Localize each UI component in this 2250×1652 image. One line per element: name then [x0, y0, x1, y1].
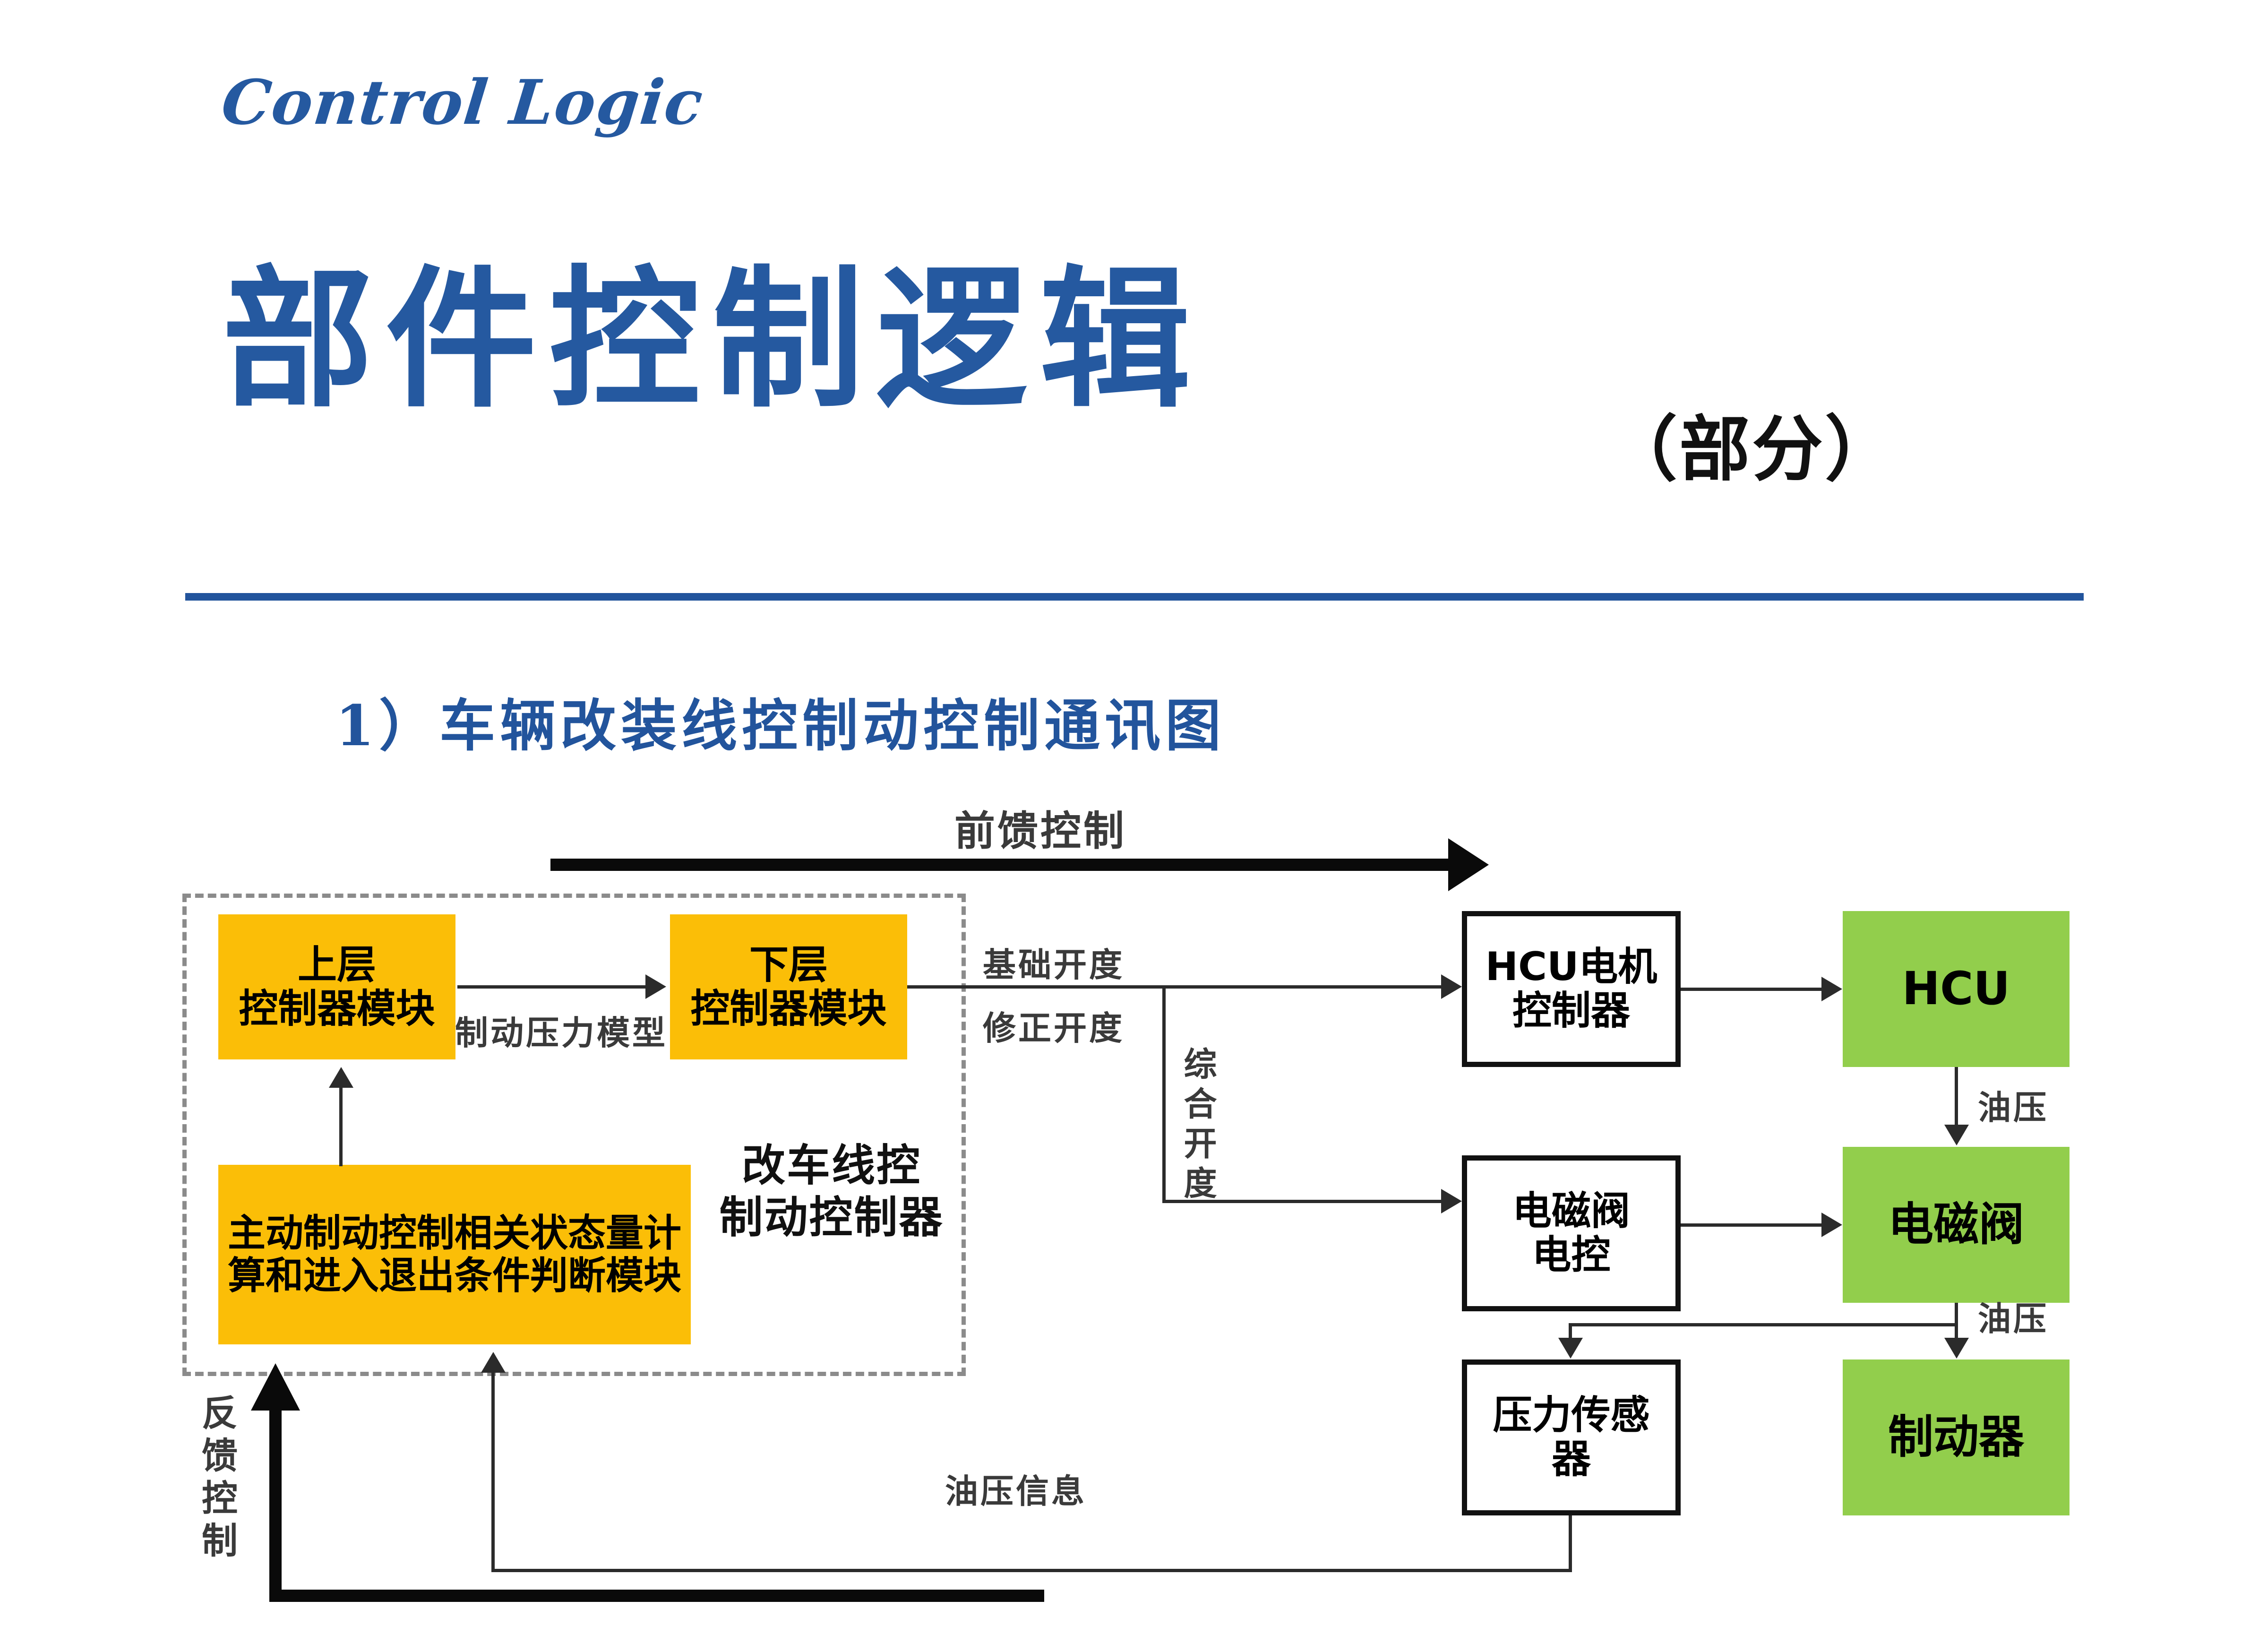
- edge-label-oil-pressure-info: 油压信息: [945, 1465, 1087, 1513]
- edge-valve-to-brake-head: [1944, 1338, 1969, 1359]
- page-title-suffix: （部分）: [1606, 392, 1898, 495]
- edge-hcu-motor-to-hcu-head: [1821, 977, 1842, 1001]
- edge-label-brake-pressure-model: 制动压力模型: [455, 1007, 668, 1054]
- section-subtitle: 1）车辆改装线控制动控制通讯图: [335, 680, 1226, 761]
- edge-valve-to-sensor-head: [1558, 1338, 1583, 1359]
- edge-label-feedforward: 前馈控制: [954, 798, 1126, 857]
- feedback-arrow-head: [251, 1363, 300, 1411]
- feedforward-arrow-head: [1448, 838, 1489, 891]
- edge-label-corrected-opening: 修正开度: [983, 1002, 1125, 1050]
- feedback-arrow-vertical: [269, 1408, 282, 1592]
- edge-lower-to-hcu-motor-head: [1441, 974, 1462, 999]
- edge-valve-to-sensor-drop: [1569, 1323, 1572, 1340]
- control-logic-eyebrow: Control Logic: [218, 66, 707, 138]
- edge-trunk-to-solenoid-ecu-head: [1441, 1189, 1462, 1213]
- feedback-arrow-horizontal: [269, 1590, 1044, 1602]
- edge-hcu-to-valve-head: [1944, 1125, 1969, 1145]
- page-title: 部件控制逻辑: [222, 265, 1203, 416]
- edge-valve-to-brake-line: [1955, 1303, 1958, 1340]
- block-hcu-motor-controller[interactable]: HCU电机 控制器: [1462, 911, 1681, 1067]
- edge-solenoid-ecu-to-valve-head: [1821, 1213, 1842, 1237]
- edge-label-combined-opening: 综合开度: [1181, 1047, 1214, 1205]
- title-divider: [185, 593, 2084, 601]
- block-pressure-sensor[interactable]: 压力传感 器: [1462, 1359, 1681, 1515]
- group-label: 改车线控 制动控制器: [718, 1140, 945, 1244]
- edge-valve-to-sensor-line: [1569, 1323, 1956, 1326]
- edge-upper-to-lower-line: [457, 985, 646, 989]
- edge-state-to-upper-line: [339, 1087, 343, 1166]
- edge-hcu-to-valve-line: [1955, 1067, 1958, 1127]
- edge-label-base-opening: 基础开度: [983, 938, 1125, 986]
- feedforward-arrow-line: [550, 859, 1451, 871]
- block-hcu[interactable]: HCU: [1843, 911, 2070, 1067]
- block-brake[interactable]: 制动器: [1843, 1359, 2070, 1515]
- edge-upper-to-lower-head: [645, 974, 666, 999]
- edge-solenoid-ecu-to-valve-line: [1681, 1223, 1822, 1227]
- edge-feedback-into-state-line: [491, 1373, 495, 1571]
- edge-state-to-upper-head: [329, 1067, 353, 1088]
- edge-oil-pressure-info-line: [491, 1569, 1572, 1572]
- edge-hcu-motor-to-hcu-line: [1681, 988, 1822, 991]
- edge-label-oil-pressure-1: 油压: [1978, 1081, 2049, 1129]
- block-lower-controller[interactable]: 下层 控制器模块: [670, 914, 907, 1059]
- edge-label-oil-pressure-2: 油压: [1978, 1292, 2049, 1340]
- block-state-calc-module[interactable]: 主动制动控制相关状态量计 算和进入退出条件判断模块: [218, 1165, 691, 1344]
- edge-label-feedback: 反馈控制: [198, 1394, 234, 1564]
- block-upper-controller[interactable]: 上层 控制器模块: [218, 914, 455, 1059]
- edge-sensor-down-line: [1569, 1515, 1572, 1572]
- edge-trunk-vertical: [1162, 985, 1166, 1203]
- block-solenoid-ecu[interactable]: 电磁阀 电控: [1462, 1155, 1681, 1311]
- edge-feedback-into-state-head: [481, 1352, 506, 1373]
- block-solenoid-valve[interactable]: 电磁阀: [1843, 1147, 2070, 1303]
